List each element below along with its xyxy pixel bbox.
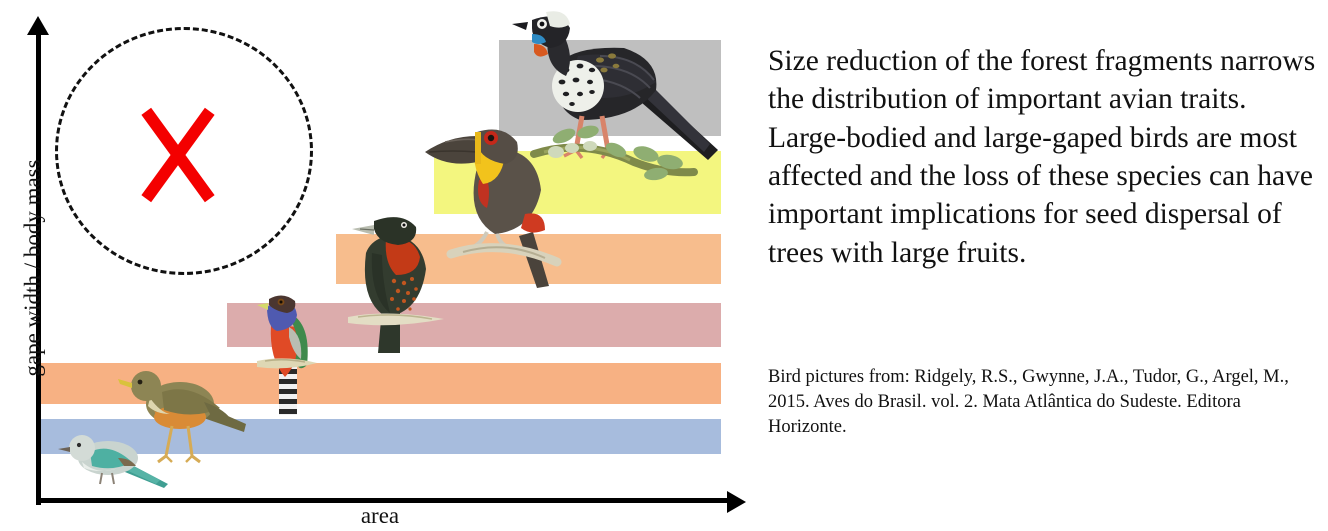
picture-credit-text: Bird pictures from: Ridgely, R.S., Gwynn…	[768, 365, 1324, 439]
red-x-mark-icon	[140, 105, 224, 205]
x-axis-arrow-icon	[727, 491, 746, 513]
y-axis-arrow-icon	[27, 16, 49, 35]
bird-rufous-bellied-thrush	[118, 362, 250, 468]
schematic-plot: gape width / body mass area	[0, 0, 760, 531]
y-axis-label: gape width / body mass	[20, 153, 46, 383]
headline-text: Size reduction of the forest fragments n…	[768, 42, 1320, 272]
text-panel: Size reduction of the forest fragments n…	[762, 0, 1328, 531]
bird-surucua-trogon	[255, 281, 321, 417]
bird-black-fronted-piping-guan	[504, 4, 728, 176]
figure-root: gape width / body mass area Size reducti…	[0, 0, 1328, 531]
x-axis-label: area	[290, 503, 470, 529]
